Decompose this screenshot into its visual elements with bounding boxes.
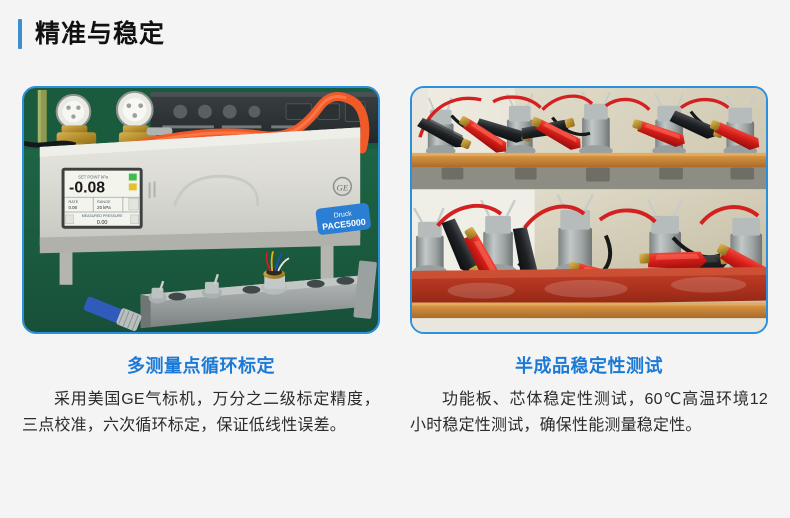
caption-block-stability: 半成品稳定性测试 功能板、芯体稳定性测试，60℃高温环境12小时稳定性测试，确保…	[410, 356, 768, 438]
caption-block-calibration: 多测量点循环标定 采用美国GE气标机，万分之二级标定精度，三点校准，六次循环标定…	[22, 356, 380, 438]
caption-body-stability: 功能板、芯体稳定性测试，60℃高温环境12小时稳定性测试，确保性能测量稳定性。	[410, 387, 768, 439]
caption-title-stability: 半成品稳定性测试	[410, 356, 768, 378]
heading-accent-bar	[18, 19, 22, 49]
feature-card-stability: 半成品稳定性测试 功能板、芯体稳定性测试，60℃高温环境12小时稳定性测试，确保…	[410, 86, 768, 438]
feature-card-calibration: GE Druck PACE5000 SET POINT kPa -0.08	[22, 86, 380, 438]
svg-text:0.08: 0.08	[68, 205, 77, 210]
feature-cards-row: GE Druck PACE5000 SET POINT kPa -0.08	[0, 86, 790, 438]
page-heading: 精准与稳定	[18, 16, 165, 52]
caption-title-calibration: 多测量点循环标定	[22, 356, 380, 378]
stability-photo-illustration	[412, 88, 766, 332]
svg-text:MEASURED PRESSURE: MEASURED PRESSURE	[82, 214, 123, 218]
svg-text:0.00: 0.00	[97, 220, 108, 226]
photo-stability-test-rack	[410, 86, 768, 334]
svg-text:RATE: RATE	[68, 200, 78, 204]
page-title: 精准与稳定	[35, 22, 165, 47]
caption-body-calibration: 采用美国GE气标机，万分之二级标定精度，三点校准，六次循环标定，保证低线性误差。	[22, 387, 380, 439]
svg-text:GE: GE	[336, 182, 348, 192]
photo-calibration-setup: GE Druck PACE5000 SET POINT kPa -0.08	[22, 86, 380, 334]
svg-text:RANGE: RANGE	[97, 200, 111, 204]
svg-text:-0.08: -0.08	[69, 179, 105, 196]
svg-text:20 kPa: 20 kPa	[97, 205, 111, 210]
calibration-photo-illustration: GE Druck PACE5000 SET POINT kPa -0.08	[24, 88, 378, 332]
